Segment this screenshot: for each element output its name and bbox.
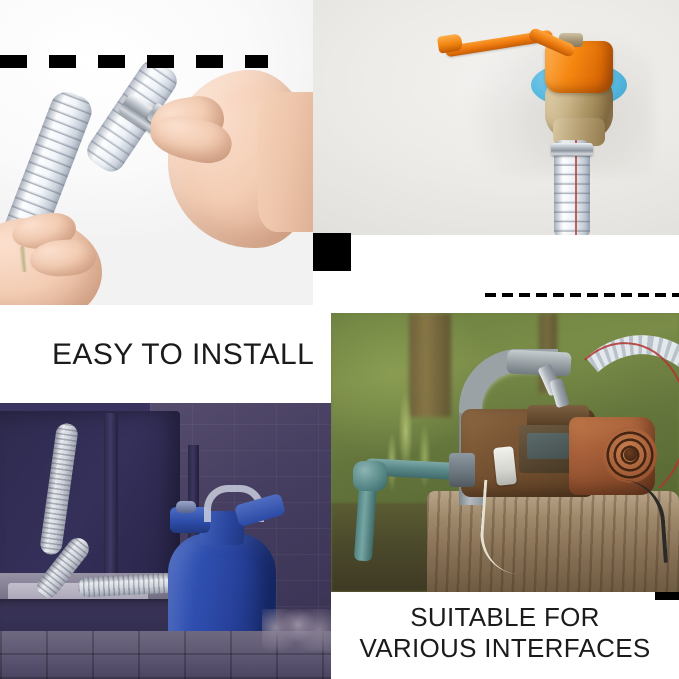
black-bar-accent xyxy=(655,592,679,600)
motor-fan-hub xyxy=(624,448,637,461)
collage-stage: EASY TO INSTALL xyxy=(0,0,679,679)
right-hand-wrist xyxy=(258,92,313,232)
pump-nameplate-inner xyxy=(527,433,569,459)
photo-blue-gas-cylinder xyxy=(0,403,331,679)
photo-orange-ball-valve xyxy=(313,0,679,235)
hose-clamp xyxy=(551,143,593,156)
pump-flange xyxy=(449,453,475,487)
caption-easy-to-install: EASY TO INSTALL xyxy=(52,338,314,372)
photo-water-pump-on-stump xyxy=(331,313,679,592)
garden-stones xyxy=(262,609,331,651)
caption-line-two: VARIOUS INTERFACES xyxy=(331,633,679,664)
thin-dashed-rule xyxy=(485,293,679,297)
caption-suitable-for-various-interfaces: SUITABLE FOR VARIOUS INTERFACES xyxy=(331,602,679,664)
cylinder-valve-knob xyxy=(176,501,196,513)
photo-hand-installing-clamp xyxy=(0,0,313,305)
black-square-accent xyxy=(313,233,351,271)
thick-dashed-rule xyxy=(0,55,268,68)
caption-line-one: SUITABLE FOR xyxy=(331,602,679,633)
inlet-pipe-joint xyxy=(353,461,387,491)
